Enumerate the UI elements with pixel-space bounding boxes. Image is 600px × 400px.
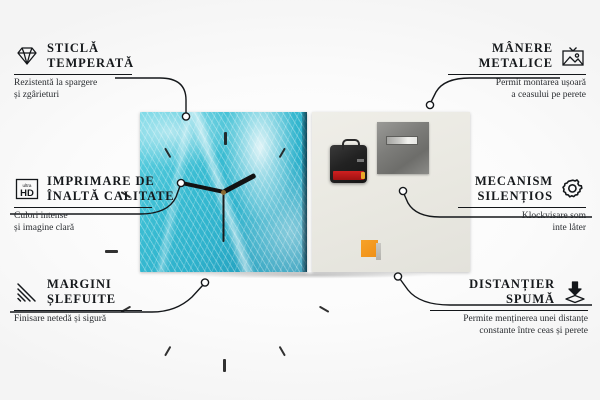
callout-rule bbox=[448, 74, 586, 75]
hanger-slot bbox=[386, 136, 418, 145]
arrow-down-layer-icon bbox=[562, 280, 588, 304]
callout-header: STICLĂ TEMPERATĂ bbox=[14, 41, 134, 71]
metal-hanger-plate bbox=[377, 122, 429, 174]
clock-tick-1 bbox=[254, 148, 286, 201]
diamond-icon bbox=[14, 44, 40, 68]
clock-minute-hand bbox=[176, 180, 224, 194]
callout-margini-slefuite[interactable]: MARGINI ȘLEFUITE Finisare netedă și sigu… bbox=[14, 277, 144, 326]
clock-tick-4 bbox=[276, 281, 329, 313]
callout-distantier-spuma[interactable]: DISTANȚIER SPUMĂ Permite menținerea unei… bbox=[428, 277, 588, 337]
clock-hour-hand bbox=[222, 173, 256, 194]
clock-tick-12 bbox=[224, 132, 226, 192]
callout-title: IMPRIMARE DE ÎNALTĂ CALITATE bbox=[47, 174, 175, 204]
callout-title: MARGINI ȘLEFUITE bbox=[47, 277, 116, 307]
callout-header: MARGINI ȘLEFUITE bbox=[14, 277, 144, 307]
callout-rule bbox=[458, 207, 586, 208]
callout-header: MECANISM SILENȚIOS bbox=[456, 174, 586, 204]
callout-title: MECANISM SILENȚIOS bbox=[475, 174, 553, 204]
clock-tick-7 bbox=[164, 303, 196, 356]
callout-subtitle-2: și zgârieturi bbox=[14, 90, 134, 102]
callout-rule bbox=[14, 207, 152, 208]
callout-subtitle-2: inte låter bbox=[456, 223, 586, 235]
callout-subtitle-2: și imagine clară bbox=[14, 223, 154, 235]
battery bbox=[333, 171, 364, 180]
clock-back-panel bbox=[312, 112, 470, 272]
callout-rule bbox=[14, 74, 132, 75]
callout-rule bbox=[430, 310, 588, 311]
ultra-hd-icon: ultra HD bbox=[14, 177, 40, 201]
gear-icon bbox=[560, 177, 586, 201]
callout-subtitle-2: a ceasului pe perete bbox=[446, 90, 586, 102]
clock-tick-6 bbox=[224, 312, 226, 372]
callout-title: DISTANȚIER SPUMĂ bbox=[469, 277, 555, 307]
callout-manere-metalice[interactable]: MÂNERE METALICE Permit montarea ușoară a… bbox=[446, 41, 586, 101]
movement-label bbox=[357, 159, 364, 162]
callout-subtitle-1: Permit montarea ușoară bbox=[446, 78, 586, 90]
clock-tick-5 bbox=[254, 303, 286, 356]
callout-subtitle-2: constante între ceas și perete bbox=[428, 326, 588, 338]
product-image bbox=[140, 112, 470, 275]
infographic-stage: STICLĂ TEMPERATĂ Rezistentă la spargere … bbox=[0, 0, 600, 400]
callout-subtitle-1: Permite menținerea unei distanțe bbox=[428, 314, 588, 326]
callout-subtitle-1: Finisare netedă și sigură bbox=[14, 314, 144, 326]
callout-subtitle-1: Rezistentă la spargere bbox=[14, 78, 134, 90]
callout-header: ultra HD IMPRIMARE DE ÎNALTĂ CALITATE bbox=[14, 174, 154, 204]
callout-title: STICLĂ TEMPERATĂ bbox=[47, 41, 134, 71]
callout-title: MÂNERE METALICE bbox=[479, 41, 553, 71]
callout-header: DISTANȚIER SPUMĂ bbox=[428, 277, 588, 307]
callout-imprimare-inalta-calitate[interactable]: ultra HD IMPRIMARE DE ÎNALTĂ CALITATE Cu… bbox=[14, 174, 154, 234]
quartz-movement bbox=[330, 145, 367, 183]
callout-sticla-temperata[interactable]: STICLĂ TEMPERATĂ Rezistentă la spargere … bbox=[14, 41, 134, 101]
clock-center-cap bbox=[221, 190, 226, 195]
callout-subtitle-1: Culori intense bbox=[14, 211, 154, 223]
callout-header: MÂNERE METALICE bbox=[446, 41, 586, 71]
movement-hook bbox=[342, 139, 360, 150]
hatch-lines-icon bbox=[14, 280, 40, 304]
callout-subtitle-1: Klockvisare som bbox=[456, 211, 586, 223]
callout-mecanism-silentios[interactable]: MECANISM SILENȚIOS Klockvisare som inte … bbox=[456, 174, 586, 234]
svg-text:HD: HD bbox=[20, 188, 34, 199]
clock-tick-9 bbox=[105, 251, 165, 253]
clock-second-hand bbox=[223, 192, 225, 242]
foam-spacer bbox=[361, 240, 378, 257]
callout-rule bbox=[14, 310, 142, 311]
picture-frame-icon bbox=[560, 44, 586, 68]
